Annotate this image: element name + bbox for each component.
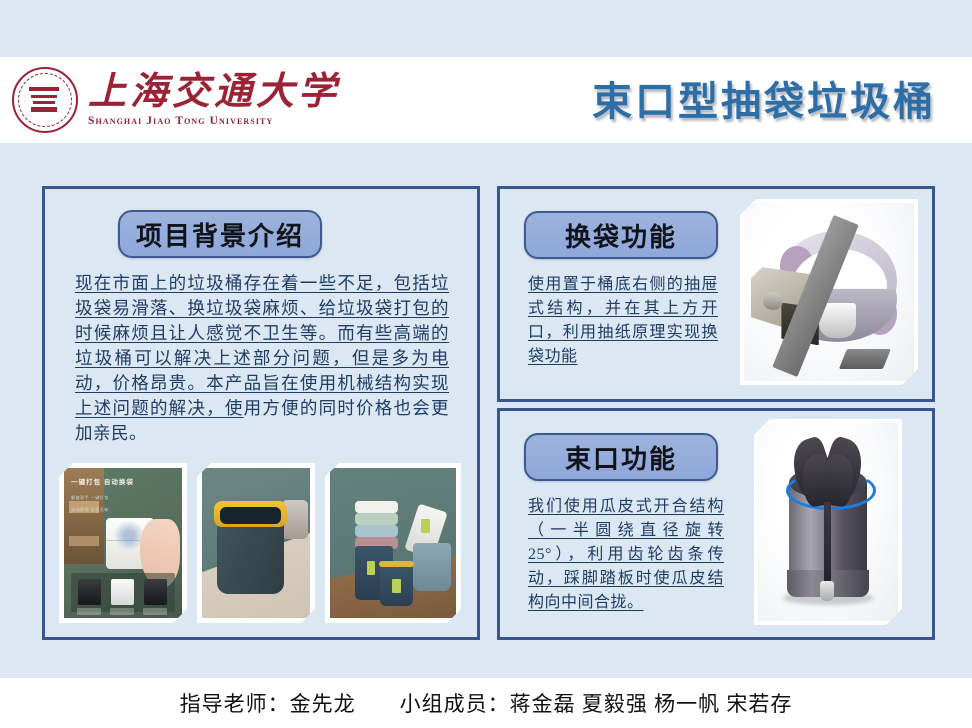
advisor-label: 指导老师： <box>180 692 290 716</box>
photo-smart-bin-ad: 一键打包 自动换袋 解放双手 一键打包 自动换袋 全程无味 <box>59 463 187 623</box>
footer-credits: 指导老师：金先龙小组成员：蒋金磊 夏毅强 杨一帆 宋若存 <box>180 688 793 718</box>
panel-heading-project-background: 项目背景介绍 <box>118 210 322 258</box>
advisor-name: 金先龙 <box>290 692 356 716</box>
team-names: 蒋金磊 夏毅强 杨一帆 宋若存 <box>510 692 793 716</box>
university-logo-text: 上海交通大学 Shanghai Jiao Tong University <box>88 73 340 128</box>
university-name-en: Shanghai Jiao Tong University <box>88 115 340 127</box>
university-logo: 上海交通大学 Shanghai Jiao Tong University <box>12 67 340 133</box>
background-body-underlined: 现在市面上的垃圾桶存在着一些不足，包括垃圾袋易滑落、换垃圾袋麻烦、给垃圾袋打包的… <box>75 273 449 418</box>
smart-bin-headline: 一键打包 自动换袋 <box>71 476 134 486</box>
team-label: 小组成员： <box>400 692 510 716</box>
poster-canvas: 上海交通大学 Shanghai Jiao Tong University 束口型… <box>0 0 972 728</box>
background-body-text: 现在市面上的垃圾桶存在着一些不足，包括垃圾袋易滑落、换垃圾袋麻烦、给垃圾袋打包的… <box>75 271 449 446</box>
panel-mouth-close: 束口功能 我们使用瓜皮式开合结构（一半圆绕直径旋转25°），利用齿轮齿条传动，踩… <box>497 408 935 640</box>
panel-bag-change: 换袋功能 使用置于桶底右侧的抽屉式结构，并在其上方开口，利用抽纸原理实现换袋功能 <box>497 186 935 402</box>
university-name-cn: 上海交通大学 <box>88 73 340 113</box>
mouth-close-body-underlined: 我们使用瓜皮式开合结构（一半圆绕直径旋转25°），利用齿轮齿条传动，踩脚踏板时使… <box>528 498 724 611</box>
panel-heading-bag-change: 换袋功能 <box>524 211 718 259</box>
photo-square-bin <box>197 463 315 623</box>
image-trash-bin-cad <box>754 419 902 625</box>
university-seal-icon <box>12 67 78 133</box>
photo-stacked-bins <box>325 463 461 623</box>
bag-change-body-text: 使用置于桶底右侧的抽屉式结构，并在其上方开口，利用抽纸原理实现换袋功能 <box>528 273 718 369</box>
image-drawer-mechanism-cad <box>740 199 918 385</box>
panel-heading-mouth-close: 束口功能 <box>524 433 718 481</box>
mouth-close-body-text: 我们使用瓜皮式开合结构（一半圆绕直径旋转25°），利用齿轮齿条传动，踩脚踏板时使… <box>528 495 724 615</box>
smart-bin-sub1: 解放双手 一键打包 <box>71 494 109 501</box>
smart-bin-sub2: 自动换袋 全程无味 <box>71 506 109 513</box>
photo-strip: 一键打包 自动换袋 解放双手 一键打包 自动换袋 全程无味 <box>59 463 461 623</box>
footer-band: 指导老师：金先龙小组成员：蒋金磊 夏毅强 杨一帆 宋若存 <box>0 678 972 728</box>
page-title: 束口型抽袋垃圾桶 <box>592 69 936 127</box>
